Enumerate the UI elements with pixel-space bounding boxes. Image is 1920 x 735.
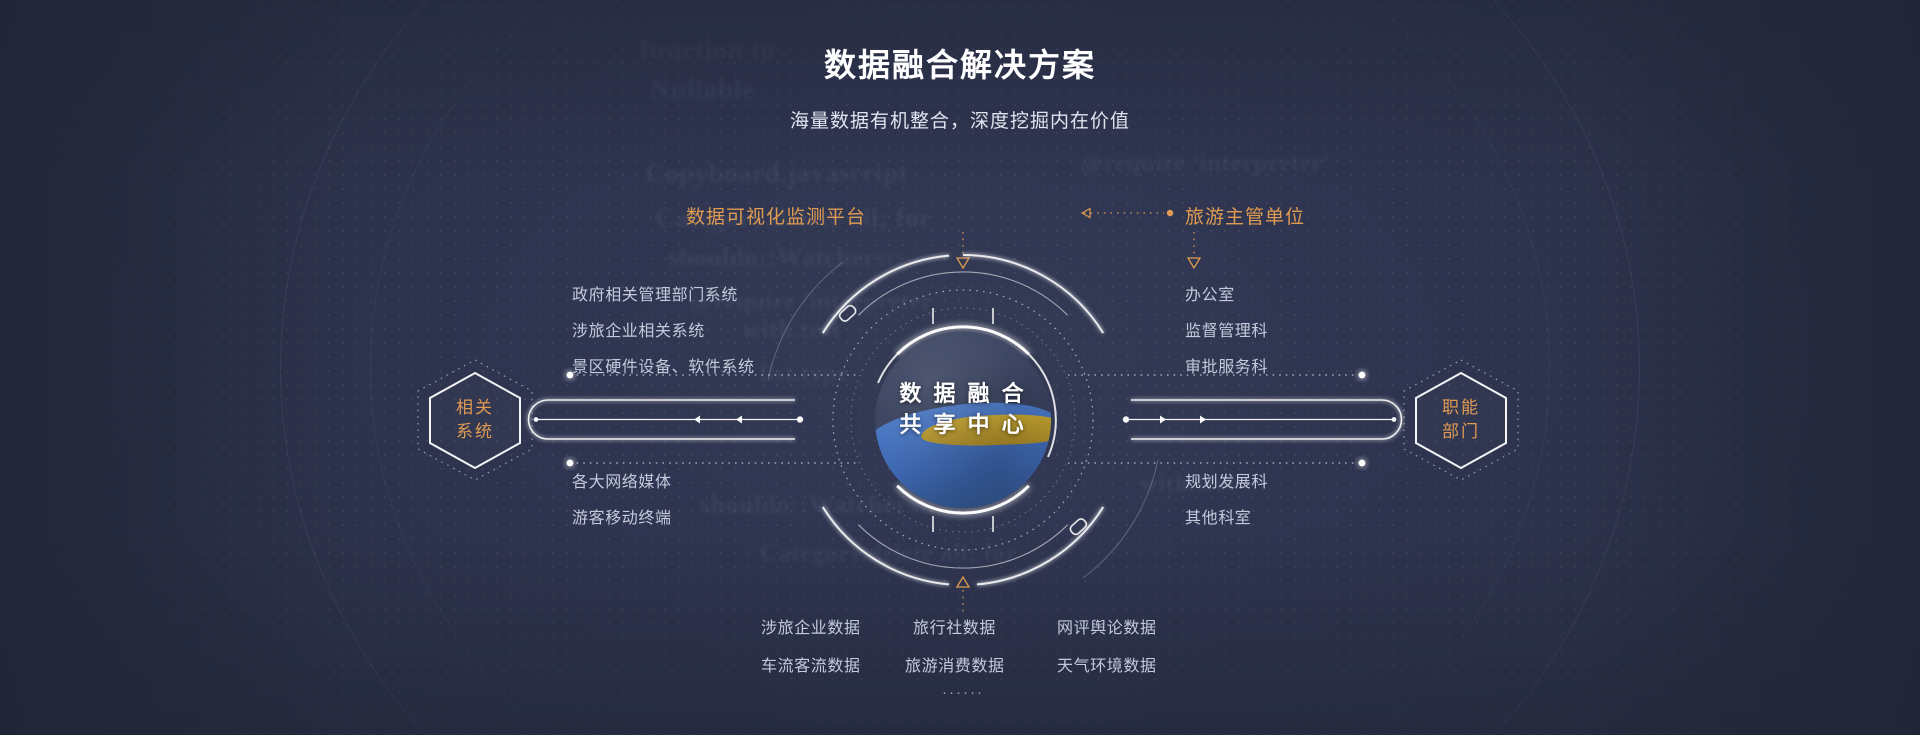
right-lower-item-0: 规划发展科: [1185, 468, 1268, 492]
bottom-item-r1c2: 天气环境数据: [1057, 652, 1157, 676]
hex-right-line1: 职能: [1442, 396, 1480, 420]
hub-sphere: [875, 332, 1051, 508]
right-lower-item-1: 其他科室: [1185, 504, 1251, 528]
page-subtitle: 海量数据有机整合，深度挖掘内在价值: [0, 106, 1920, 133]
bottom-item-r0c1: 旅行社数据: [913, 614, 996, 638]
bottom-item-r0c2: 网评舆论数据: [1057, 614, 1157, 638]
group-title-visualization-platform[interactable]: 数据可视化监测平台: [686, 202, 866, 229]
left-upper-item-0: 政府相关管理部门系统: [572, 281, 738, 305]
hexagon-functional-departments[interactable]: 职能 部门: [1396, 355, 1526, 485]
hex-left-line2: 系统: [456, 420, 494, 444]
group-title-tourism-authority[interactable]: 旅游主管单位: [1185, 202, 1305, 229]
sphere-shading: [875, 332, 1051, 508]
bottom-item-r0c0: 涉旅企业数据: [761, 614, 861, 638]
bottom-item-r1c1: 旅游消费数据: [905, 652, 1005, 676]
hexagon-related-systems[interactable]: 相关 系统: [410, 355, 540, 485]
left-upper-item-1: 涉旅企业相关系统: [572, 317, 705, 341]
hex-left-line1: 相关: [456, 396, 494, 420]
left-upper-item-2: 景区硬件设备、软件系统: [572, 353, 755, 377]
right-upper-item-0: 办公室: [1185, 281, 1235, 305]
right-upper-item-2: 审批服务科: [1185, 353, 1268, 377]
left-lower-item-1: 游客移动终端: [572, 504, 672, 528]
left-lower-item-0: 各大网络媒体: [572, 468, 672, 492]
bottom-ellipsis: ······: [942, 684, 984, 701]
hexagon-related-systems-label: 相关 系统: [410, 355, 540, 485]
page-title: 数据融合解决方案: [0, 40, 1920, 86]
right-upper-item-1: 监督管理科: [1185, 317, 1268, 341]
infographic-stage: Copyboard.javascript Category.delete all…: [0, 0, 1920, 735]
hexagon-functional-departments-label: 职能 部门: [1396, 355, 1526, 485]
hex-right-line2: 部门: [1442, 420, 1480, 444]
bottom-item-r1c0: 车流客流数据: [761, 652, 861, 676]
